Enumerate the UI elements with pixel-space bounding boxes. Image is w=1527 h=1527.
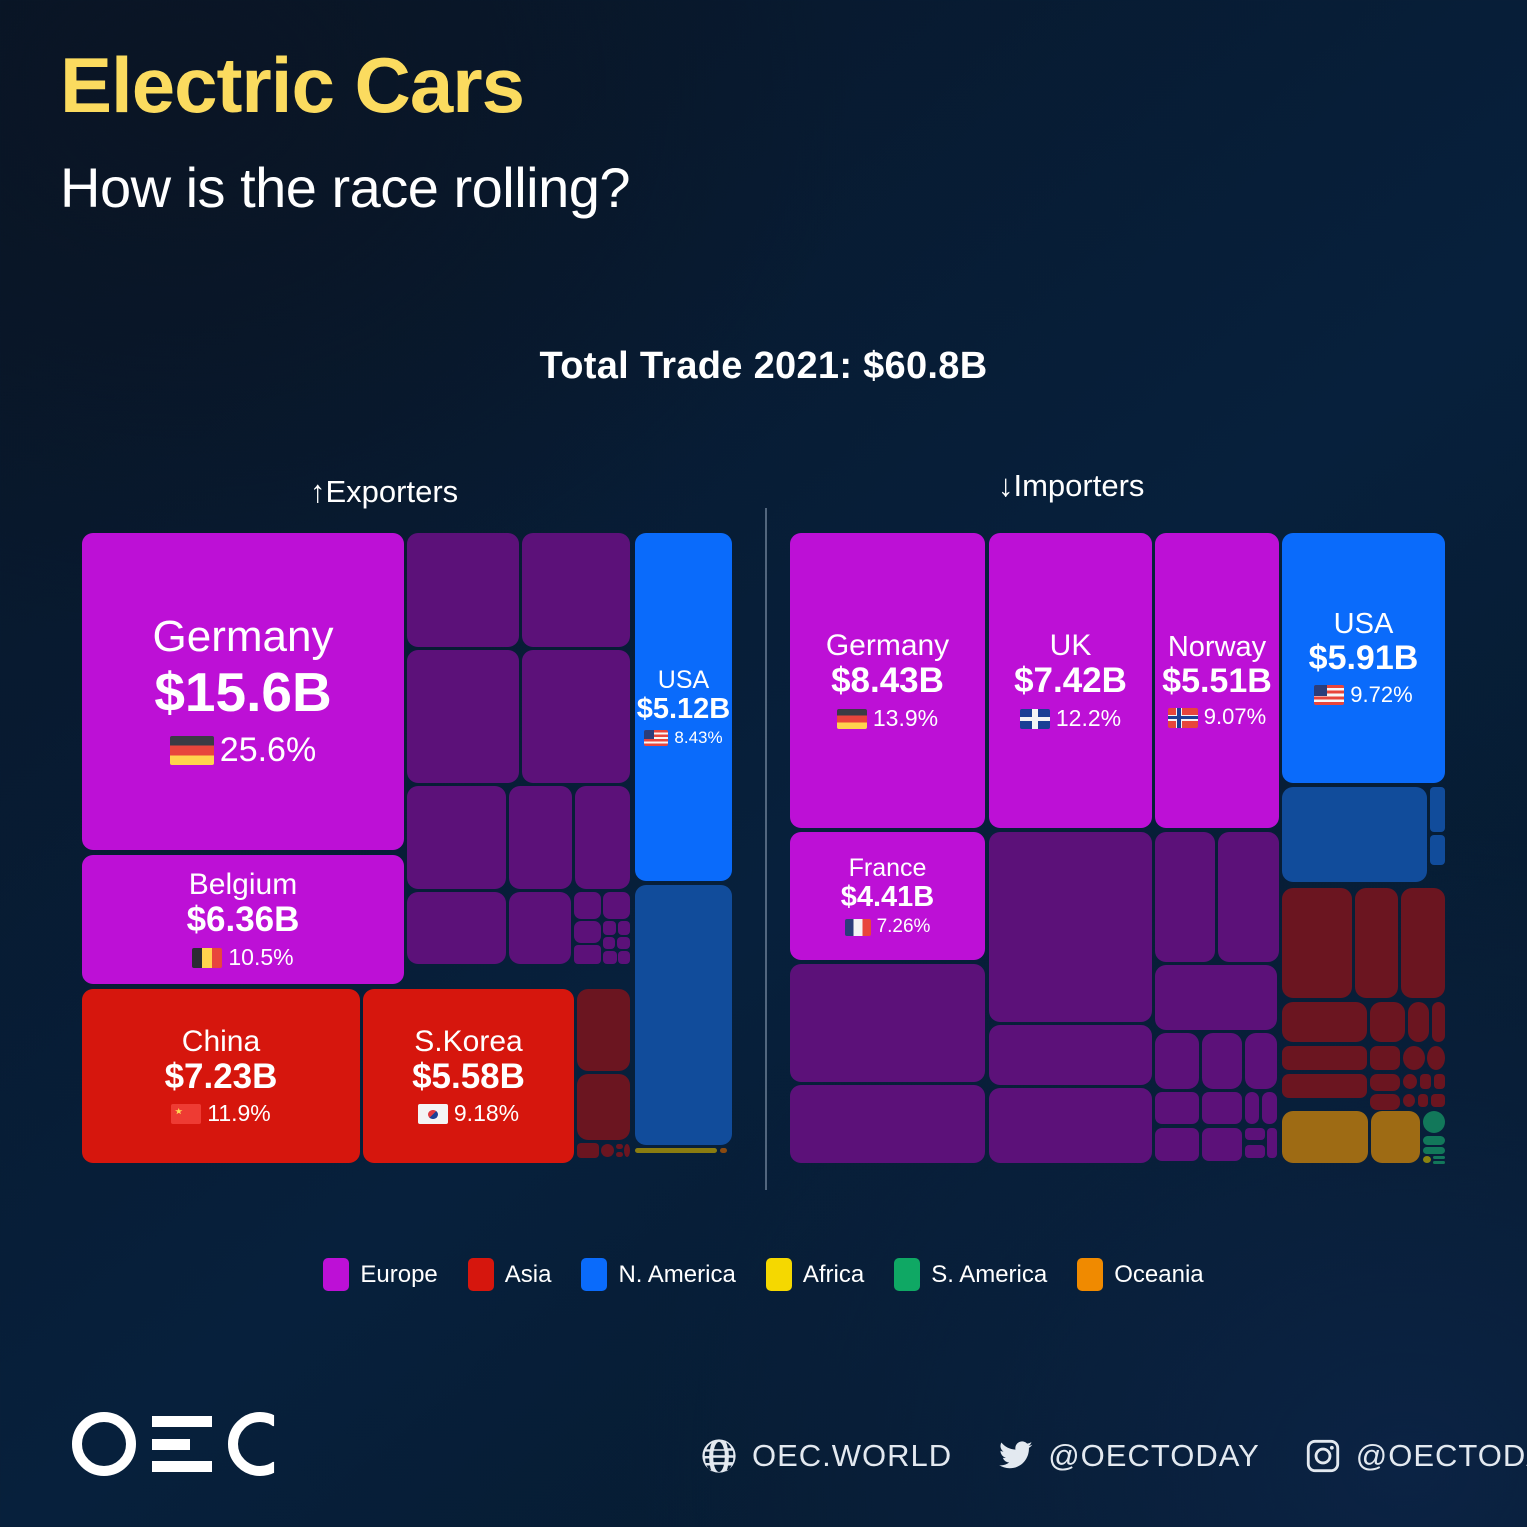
treemap-tile[interactable] bbox=[1202, 1033, 1242, 1089]
treemap-tile[interactable] bbox=[1155, 1033, 1199, 1089]
legend-item-africa[interactable]: Africa bbox=[766, 1258, 864, 1291]
treemap-tile[interactable] bbox=[617, 937, 630, 949]
legend-label: Oceania bbox=[1114, 1261, 1203, 1289]
treemap-tile[interactable] bbox=[618, 921, 630, 935]
treemap-tile[interactable] bbox=[1430, 835, 1445, 865]
treemap-tile[interactable] bbox=[603, 892, 630, 919]
treemap-tile-france[interactable]: France $4.41B 7.26% bbox=[790, 832, 985, 960]
treemap-tile[interactable] bbox=[603, 937, 615, 949]
treemap-tile[interactable] bbox=[1202, 1128, 1242, 1161]
treemap-tile-usa[interactable]: USA $5.12B 8.43% bbox=[635, 533, 732, 881]
tile-share-text: 9.18% bbox=[454, 1102, 519, 1126]
tile-share-text: 7.26% bbox=[877, 917, 931, 937]
page-title: Electric Cars bbox=[60, 46, 524, 124]
treemap-tile[interactable] bbox=[1267, 1128, 1277, 1158]
treemap-tile[interactable] bbox=[1155, 1092, 1199, 1124]
treemap-tile[interactable] bbox=[1245, 1033, 1277, 1089]
treemap-tile[interactable] bbox=[1423, 1111, 1445, 1133]
treemap-tile[interactable] bbox=[635, 885, 732, 1145]
tile-share: 11.9% bbox=[171, 1102, 271, 1126]
tile-country: China bbox=[182, 1026, 260, 1057]
tile-share: 25.6% bbox=[170, 733, 316, 768]
treemap-tile[interactable] bbox=[577, 1074, 630, 1140]
treemap-tile[interactable] bbox=[989, 1025, 1152, 1085]
treemap-tile[interactable] bbox=[1282, 888, 1352, 998]
tile-country: UK bbox=[1050, 630, 1092, 661]
treemap-tile[interactable] bbox=[1418, 1094, 1428, 1107]
tile-share: 9.07% bbox=[1168, 706, 1266, 729]
tile-country: S.Korea bbox=[414, 1026, 522, 1057]
logo-letter-o-icon bbox=[72, 1412, 136, 1476]
tile-value: $5.58B bbox=[412, 1059, 525, 1095]
treemap-tile[interactable] bbox=[1423, 1147, 1445, 1154]
legend-item-oceania[interactable]: Oceania bbox=[1077, 1258, 1203, 1291]
tile-value: $4.41B bbox=[841, 882, 935, 912]
exporters-header: ↑Exporters bbox=[310, 474, 458, 510]
treemap-tile[interactable] bbox=[601, 1144, 614, 1157]
instagram-icon bbox=[1304, 1437, 1342, 1475]
logo-letter-c-icon bbox=[228, 1412, 292, 1476]
social-link-label: @OECTODAY bbox=[1048, 1438, 1260, 1474]
legend-item-s-america[interactable]: S. America bbox=[894, 1258, 1047, 1291]
treemap-tile[interactable] bbox=[1433, 1161, 1445, 1164]
panel-divider bbox=[765, 508, 767, 1190]
treemap-tile[interactable] bbox=[1245, 1092, 1259, 1124]
continent-legend: Europe Asia N. America Africa S. America… bbox=[0, 1258, 1527, 1291]
treemap-tile[interactable] bbox=[1202, 1092, 1242, 1124]
treemap-tile[interactable] bbox=[1433, 1156, 1445, 1159]
tile-share: 9.18% bbox=[418, 1102, 519, 1126]
exporters-treemap: Germany $15.6B 25.6% Belgium $6.36B 10.5… bbox=[82, 533, 732, 1163]
tile-value: $7.42B bbox=[1014, 663, 1127, 699]
treemap-tile[interactable] bbox=[1282, 1002, 1367, 1042]
treemap-tile[interactable] bbox=[603, 951, 617, 964]
importers-treemap: Germany $8.43B 13.9% UK $7.42B 12.2% Nor… bbox=[790, 533, 1445, 1163]
flag-germany-icon bbox=[837, 709, 867, 729]
treemap-tile-usa[interactable]: USA $5.91B 9.72% bbox=[1282, 533, 1445, 783]
treemap-tile[interactable] bbox=[1434, 1074, 1445, 1089]
treemap-tile[interactable] bbox=[1370, 1094, 1400, 1110]
globe-icon bbox=[700, 1437, 738, 1475]
tile-share-text: 12.2% bbox=[1056, 707, 1121, 731]
treemap-tile-uk[interactable]: UK $7.42B 12.2% bbox=[989, 533, 1152, 828]
tile-share: 10.5% bbox=[192, 946, 293, 970]
social-link-website[interactable]: OEC.WORLD bbox=[700, 1437, 952, 1475]
treemap-tile[interactable] bbox=[1218, 832, 1279, 962]
importers-header: ↓Importers bbox=[998, 468, 1144, 504]
treemap-tile[interactable] bbox=[509, 786, 572, 889]
treemap-tile[interactable] bbox=[1155, 832, 1215, 962]
legend-item-asia[interactable]: Asia bbox=[468, 1258, 552, 1291]
tile-country: Belgium bbox=[189, 869, 297, 900]
social-link-twitter[interactable]: @OECTODAY bbox=[996, 1437, 1260, 1475]
tile-share-text: 9.72% bbox=[1350, 684, 1412, 707]
treemap-tile[interactable] bbox=[574, 921, 601, 943]
treemap-tile[interactable] bbox=[1282, 1111, 1368, 1163]
treemap-tile[interactable] bbox=[1245, 1145, 1265, 1158]
treemap-tile-china[interactable]: China $7.23B 11.9% bbox=[82, 989, 360, 1163]
tile-country: France bbox=[849, 855, 927, 881]
tile-share-text: 25.6% bbox=[220, 733, 316, 768]
legend-swatch-europe bbox=[323, 1258, 349, 1291]
treemap-tile[interactable] bbox=[522, 650, 630, 783]
legend-swatch-asia bbox=[468, 1258, 494, 1291]
treemap-tile[interactable] bbox=[790, 964, 985, 1082]
tile-value: $5.51B bbox=[1162, 664, 1272, 699]
tile-value: $15.6B bbox=[154, 664, 331, 721]
tile-share-text: 8.43% bbox=[674, 729, 722, 747]
flag-usa-icon bbox=[644, 730, 668, 746]
treemap-tile[interactable] bbox=[574, 945, 601, 964]
legend-swatch-oceania bbox=[1077, 1258, 1103, 1291]
treemap-tile[interactable] bbox=[407, 533, 519, 647]
tile-value: $7.23B bbox=[165, 1059, 278, 1095]
tile-share-text: 11.9% bbox=[207, 1102, 271, 1126]
treemap-tile[interactable] bbox=[1420, 1074, 1431, 1089]
treemap-tile[interactable] bbox=[1282, 1046, 1367, 1070]
treemap-tile[interactable] bbox=[1282, 1074, 1367, 1098]
treemap-tile[interactable] bbox=[1355, 888, 1398, 998]
treemap-tile[interactable] bbox=[603, 921, 616, 935]
treemap-tile[interactable] bbox=[616, 1144, 623, 1149]
legend-label: N. America bbox=[618, 1261, 735, 1289]
legend-label: Africa bbox=[803, 1261, 864, 1289]
treemap-tile[interactable] bbox=[616, 1152, 623, 1157]
treemap-tile[interactable] bbox=[1245, 1128, 1265, 1140]
tile-country: USA bbox=[658, 667, 709, 693]
tile-share: 9.72% bbox=[1314, 684, 1412, 707]
logo-letter-e-icon bbox=[152, 1412, 212, 1476]
legend-label: Europe bbox=[360, 1261, 437, 1289]
treemap-tile[interactable] bbox=[522, 533, 630, 647]
treemap-tile[interactable] bbox=[577, 989, 630, 1071]
social-links: OEC.WORLD @OECTODAY @OECTODAY bbox=[700, 1437, 1527, 1475]
page-subtitle: How is the race rolling? bbox=[60, 160, 630, 216]
total-trade-label: Total Trade 2021: $60.8B bbox=[0, 345, 1527, 388]
oec-logo bbox=[72, 1412, 292, 1476]
treemap-tile[interactable] bbox=[407, 786, 506, 889]
treemap-tile[interactable] bbox=[720, 1148, 727, 1153]
treemap-tile[interactable] bbox=[1370, 1002, 1405, 1042]
treemap-tile[interactable] bbox=[1370, 1046, 1400, 1070]
tile-country: USA bbox=[1334, 609, 1394, 639]
social-link-label: @OECTODAY bbox=[1356, 1438, 1527, 1474]
tile-share-text: 10.5% bbox=[228, 946, 293, 970]
treemap-tile[interactable] bbox=[407, 650, 519, 783]
treemap-tile[interactable] bbox=[635, 1148, 717, 1153]
flag-norway-icon bbox=[1168, 708, 1198, 728]
twitter-icon bbox=[996, 1437, 1034, 1475]
treemap-tile[interactable] bbox=[1430, 787, 1445, 832]
treemap-tile[interactable] bbox=[1408, 1002, 1429, 1042]
treemap-tile[interactable] bbox=[1403, 1094, 1415, 1107]
legend-label: S. America bbox=[931, 1261, 1047, 1289]
legend-swatch-n-america bbox=[581, 1258, 607, 1291]
treemap-tile[interactable] bbox=[575, 786, 630, 889]
tile-value: $5.12B bbox=[637, 694, 731, 724]
legend-item-europe[interactable]: Europe bbox=[323, 1258, 437, 1291]
treemap-tile-germany[interactable]: Germany $15.6B 25.6% bbox=[82, 533, 404, 850]
legend-item-n-america[interactable]: N. America bbox=[581, 1258, 735, 1291]
flag-belgium-icon bbox=[192, 948, 222, 968]
treemap-tile[interactable] bbox=[1432, 1002, 1445, 1042]
treemap-tile[interactable] bbox=[574, 892, 601, 919]
tile-country: Germany bbox=[153, 614, 334, 660]
treemap-tile-norway[interactable]: Norway $5.51B 9.07% bbox=[1155, 533, 1279, 828]
tile-share-text: 13.9% bbox=[873, 707, 938, 731]
treemap-tile[interactable] bbox=[1401, 888, 1445, 998]
tile-share: 12.2% bbox=[1020, 707, 1121, 731]
treemap-tile[interactable] bbox=[1370, 1074, 1400, 1091]
treemap-tile[interactable] bbox=[790, 1085, 985, 1163]
flag-france-icon bbox=[845, 919, 871, 936]
treemap-tile[interactable] bbox=[1423, 1156, 1431, 1163]
legend-label: Asia bbox=[505, 1261, 552, 1289]
flag-skorea-icon bbox=[418, 1104, 448, 1124]
treemap-tile[interactable] bbox=[618, 951, 630, 964]
treemap-tile[interactable] bbox=[407, 892, 506, 964]
tile-share-text: 9.07% bbox=[1204, 706, 1266, 729]
treemap-tile[interactable] bbox=[509, 892, 571, 964]
treemap-tile[interactable] bbox=[1427, 1046, 1445, 1070]
tile-share: 8.43% bbox=[644, 729, 722, 747]
treemap-tile[interactable] bbox=[989, 1088, 1152, 1163]
tile-value: $5.91B bbox=[1309, 641, 1419, 676]
treemap-tile-skorea[interactable]: S.Korea $5.58B 9.18% bbox=[363, 989, 574, 1163]
tile-share: 7.26% bbox=[845, 917, 931, 937]
flag-germany-icon bbox=[170, 736, 214, 765]
flag-uk-icon bbox=[1020, 709, 1050, 729]
treemap-tile[interactable] bbox=[1155, 965, 1277, 1030]
treemap-tile[interactable] bbox=[1403, 1046, 1425, 1070]
tile-value: $8.43B bbox=[831, 663, 944, 699]
flag-usa-icon bbox=[1314, 685, 1344, 705]
legend-swatch-s-america bbox=[894, 1258, 920, 1291]
social-link-instagram[interactable]: @OECTODAY bbox=[1304, 1437, 1527, 1475]
treemap-tile[interactable] bbox=[1403, 1074, 1417, 1089]
treemap-tile[interactable] bbox=[1423, 1136, 1445, 1145]
legend-swatch-africa bbox=[766, 1258, 792, 1291]
tile-country: Germany bbox=[826, 630, 949, 661]
treemap-tile[interactable] bbox=[1155, 1128, 1199, 1161]
flag-china-icon bbox=[171, 1104, 201, 1124]
tile-country: Norway bbox=[1168, 632, 1266, 662]
treemap-tile[interactable] bbox=[1262, 1092, 1277, 1124]
treemap-tile[interactable] bbox=[1282, 787, 1427, 882]
social-link-label: OEC.WORLD bbox=[752, 1438, 952, 1474]
treemap-tile-belgium[interactable]: Belgium $6.36B 10.5% bbox=[82, 855, 404, 984]
treemap-tile[interactable] bbox=[624, 1144, 630, 1157]
tile-share: 13.9% bbox=[837, 707, 938, 731]
treemap-tile-germany[interactable]: Germany $8.43B 13.9% bbox=[790, 533, 985, 828]
treemap-tile[interactable] bbox=[1371, 1111, 1420, 1163]
tile-value: $6.36B bbox=[187, 902, 300, 938]
treemap-tile[interactable] bbox=[1431, 1094, 1445, 1107]
treemap-tile[interactable] bbox=[989, 832, 1152, 1022]
treemap-tile[interactable] bbox=[577, 1143, 599, 1158]
